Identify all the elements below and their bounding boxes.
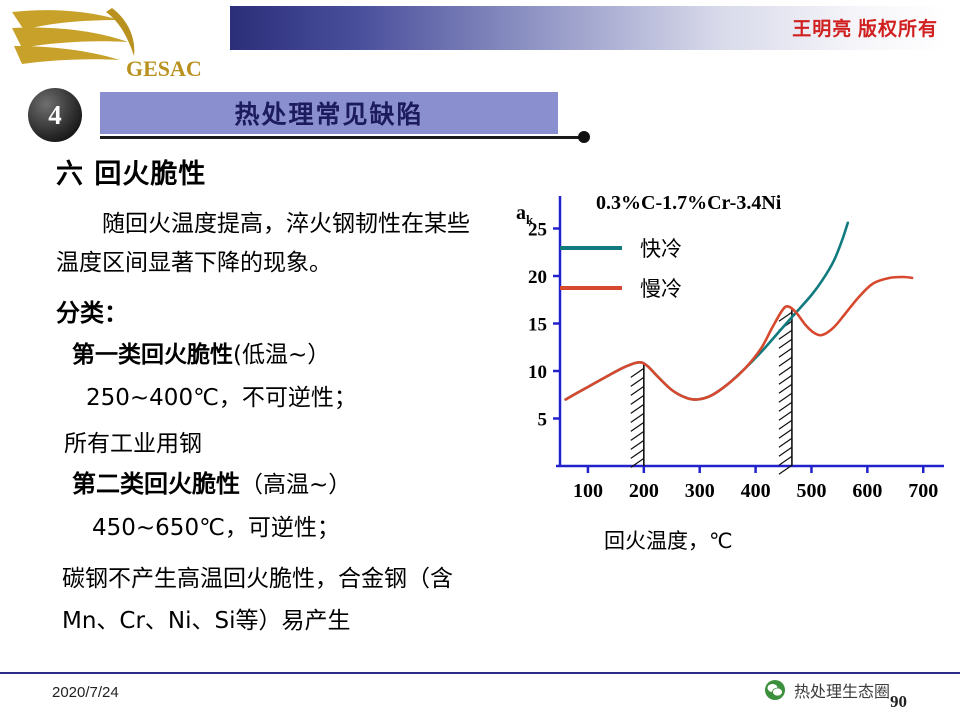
chart-title: 0.3%C-1.7%Cr-3.4Ni (596, 192, 781, 215)
list-item-type1-range: 250~400℃，不可逆性； (86, 378, 357, 412)
page-heading: 六 回火脆性 (56, 152, 206, 191)
x-tick-label: 200 (629, 480, 659, 502)
legend-label-fast-cool: 快冷 (640, 233, 682, 263)
list-item-type1: 第一类回火脆性(低温~） (72, 335, 330, 369)
toughness-chart: ak 0.3%C-1.7%Cr-3.4Ni 快冷 慢冷 510152025100… (500, 180, 950, 560)
footer-divider (0, 672, 960, 674)
legend-item-0: 快冷 (560, 228, 682, 268)
type2-thin-text: （高温~） (240, 472, 351, 498)
y-axis-label: ak (516, 202, 533, 228)
y-tick-label: 15 (528, 315, 547, 336)
list-item-type2-range: 450~650℃，可逆性； (92, 508, 340, 542)
x-axis-caption: 回火温度，℃ (604, 525, 733, 555)
title-end-dot (578, 131, 590, 143)
copyright-text: 王明亮 版权所有 (792, 14, 938, 41)
type1-bold-text: 第一类回火脆性 (72, 342, 233, 368)
x-tick-label: 600 (852, 480, 882, 502)
legend-swatch-slow-cool (560, 286, 622, 290)
x-tick-label: 500 (796, 480, 826, 502)
watermark: 热处理生态圈 (764, 678, 890, 702)
y-axis-label-main: a (516, 202, 526, 224)
gesac-logo: GESAC (8, 4, 228, 82)
list-item-type2: 第二类回火脆性（高温~） (72, 464, 351, 499)
y-tick-label: 10 (528, 362, 547, 383)
logo-text: GESAC (126, 56, 202, 81)
intro-paragraph: 随回火温度提高，淬火钢韧性在某些温度区间显著下降的现象。 (56, 205, 486, 283)
y-tick-label: 5 (538, 410, 548, 431)
y-tick-label: 20 (528, 267, 547, 288)
first-brittleness-hatch (631, 364, 644, 467)
list-item-note: 碳钢不产生高温回火脆性，合金钢（含Mn、Cr、Ni、Si等）易产生 (62, 558, 502, 642)
chart-legend: 快冷 慢冷 (560, 228, 682, 308)
list-item-type1-scope: 所有工业用钢 (64, 424, 202, 458)
legend-label-slow-cool: 慢冷 (640, 273, 682, 303)
classification-label: 分类： (56, 293, 128, 328)
type1-thin-text: (低温~） (233, 342, 330, 368)
type2-bold-text: 第二类回火脆性 (72, 470, 240, 498)
watermark-text: 热处理生态圈 (794, 678, 890, 702)
legend-swatch-fast-cool (560, 246, 622, 250)
title-underline (100, 136, 580, 139)
legend-item-1: 慢冷 (560, 268, 682, 308)
section-number: 4 (48, 100, 62, 131)
y-axis-label-sub: k (526, 212, 533, 227)
x-tick-label: 300 (685, 480, 715, 502)
second-brittleness-hatch (779, 308, 792, 474)
section-number-badge: 4 (28, 88, 82, 142)
section-title-band: 热处理常见缺陷 (100, 92, 558, 134)
x-tick-label: 100 (573, 480, 603, 502)
footer-page-number: 90 (890, 692, 907, 712)
section-title: 热处理常见缺陷 (234, 95, 423, 131)
wechat-icon (764, 679, 786, 701)
x-tick-label: 700 (908, 480, 938, 502)
footer-date: 2020/7/24 (52, 684, 119, 701)
x-tick-label: 400 (741, 480, 771, 502)
